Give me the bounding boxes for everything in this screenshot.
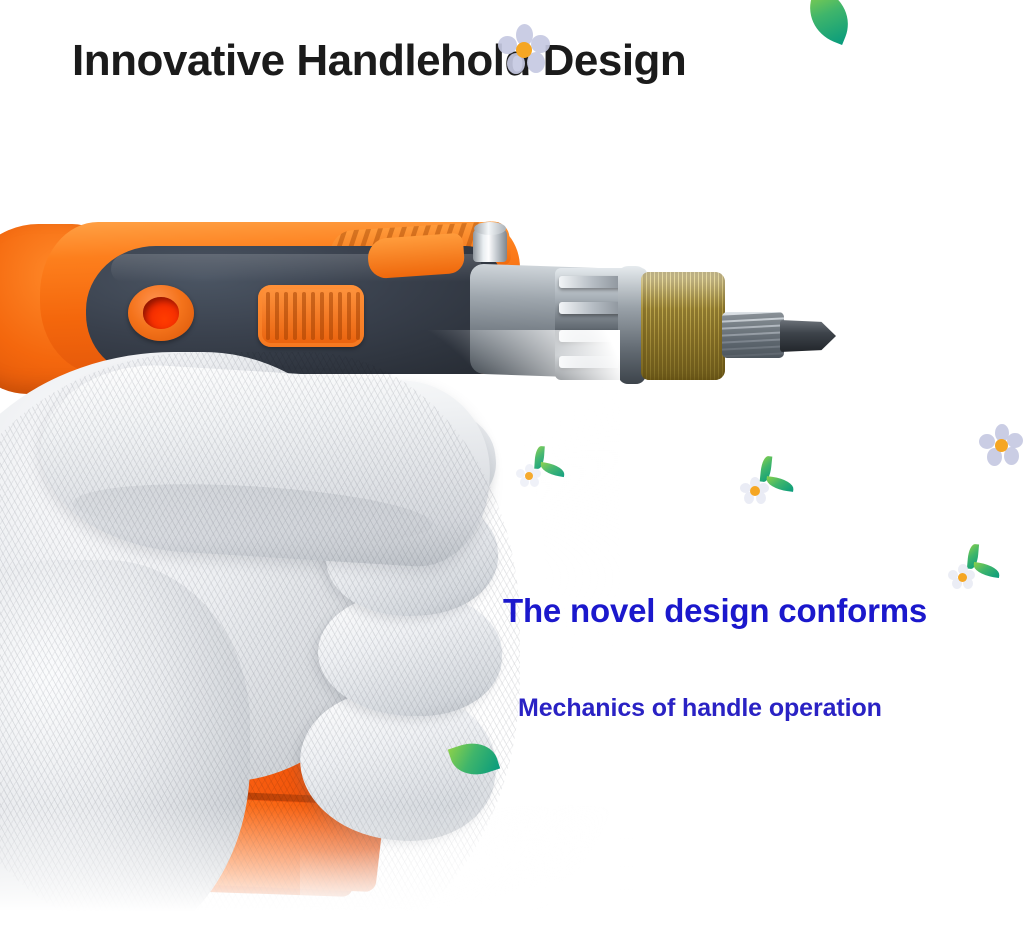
- product-photo: [0, 0, 1024, 931]
- bit-shaft: [722, 312, 784, 358]
- brass-collar: [641, 272, 725, 380]
- glove-wrist: [0, 560, 250, 931]
- tool-grip-notch: [367, 233, 466, 280]
- chrome-pin: [473, 228, 507, 262]
- caption-primary: The novel design conforms: [503, 592, 927, 630]
- direction-switch[interactable]: [258, 285, 364, 347]
- screwdriver-bit-tip: [780, 320, 836, 352]
- caption-secondary: Mechanics of handle operation: [518, 694, 882, 723]
- marketing-banner: Innovative Handlehold Design The novel d…: [0, 0, 1024, 931]
- power-button[interactable]: [128, 285, 194, 341]
- page-title: Innovative Handlehold Design: [72, 36, 686, 86]
